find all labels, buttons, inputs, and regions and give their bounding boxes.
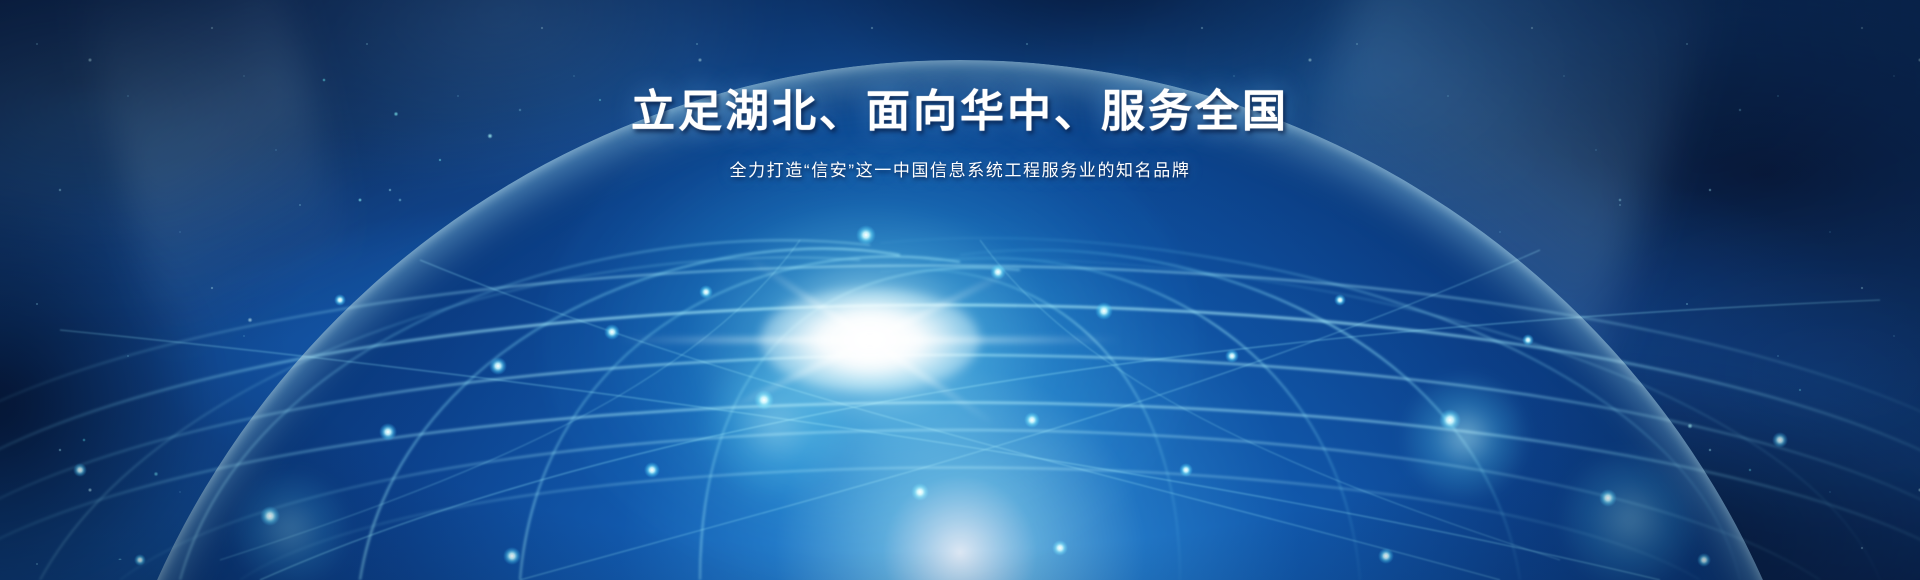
arc-group-meridian xyxy=(40,238,1880,580)
banner-subline: 全力打造“信安”这一中国信息系统工程服务业的知名品牌 xyxy=(0,156,1920,181)
banner-copy: 立足湖北、面向华中、服务全国 全力打造“信安”这一中国信息系统工程服务业的知名品… xyxy=(0,86,1920,181)
banner-headline: 立足湖北、面向华中、服务全国 xyxy=(0,86,1920,138)
hero-banner: 立足湖北、面向华中、服务全国 全力打造“信安”这一中国信息系统工程服务业的知名品… xyxy=(0,0,1920,580)
